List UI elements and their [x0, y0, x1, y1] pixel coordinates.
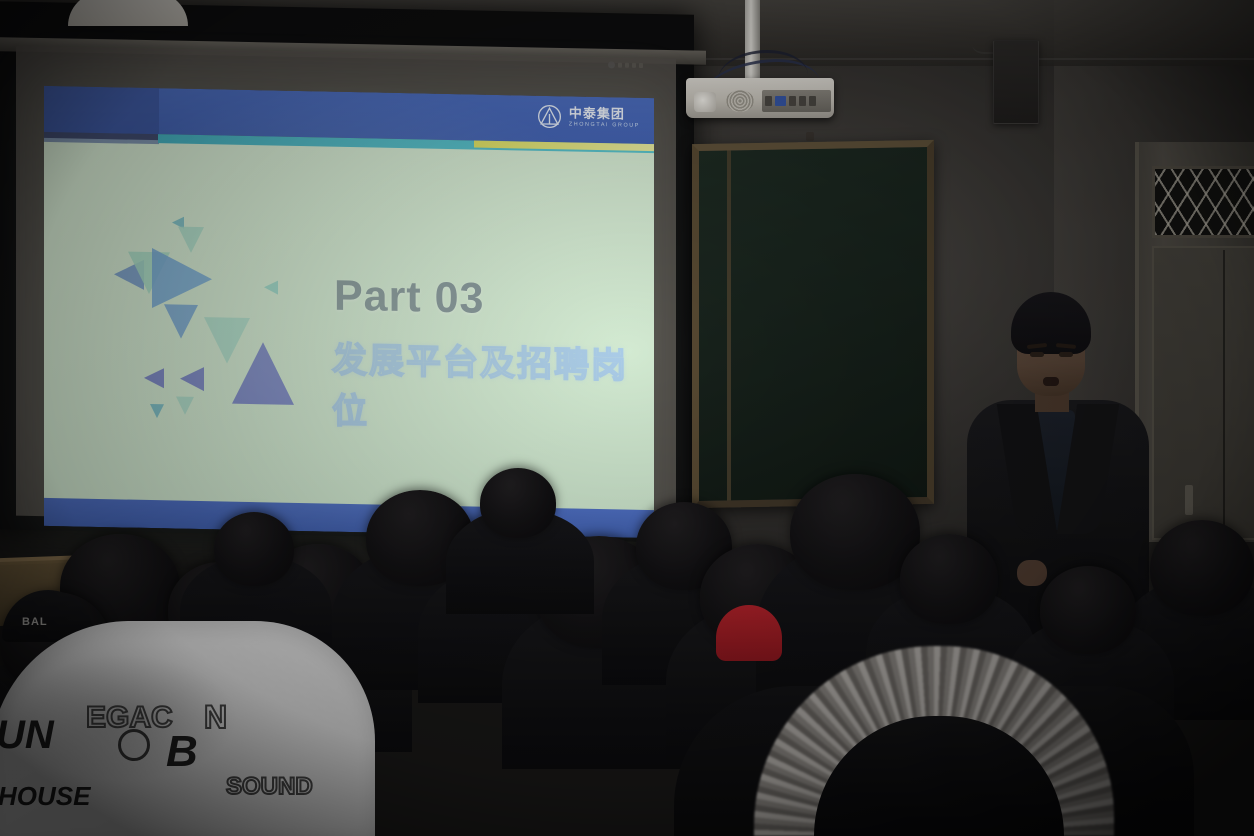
port-icon — [809, 96, 816, 106]
jacket-print-text: SOUND — [226, 773, 313, 801]
decor-triangle — [176, 397, 194, 415]
lattice-grille-icon — [1155, 169, 1254, 235]
jacket-print-text: UN — [0, 713, 54, 758]
audience-head — [480, 468, 556, 538]
lecture-hall-scene: 中泰集团 ZHONGTAI GROUP Part 03 发展平台及招聘岗位 — [0, 0, 1254, 836]
port-icon — [765, 96, 772, 106]
graffiti-print-jacket: UNEGACBHOUSESOUNDN — [0, 621, 375, 836]
slide-part-title: Part 03 — [334, 272, 484, 324]
logo-text-en: ZHONGTAI GROUP — [569, 122, 640, 129]
triangle-circle-logo-icon — [537, 104, 562, 130]
transom-window — [1152, 166, 1254, 238]
jacket-print-text: B — [166, 727, 198, 777]
decor-triangle — [232, 342, 294, 405]
projector-ports — [762, 90, 831, 112]
projector-vent-icon — [726, 90, 754, 112]
decor-triangle — [180, 367, 204, 391]
decor-triangle — [264, 280, 278, 294]
decor-triangle — [164, 304, 198, 339]
presenter-hair — [1011, 292, 1091, 354]
jacket-graphic-print: UNEGACBHOUSESOUNDN — [0, 621, 375, 836]
presenter-eye-right — [1059, 352, 1073, 357]
audience-head — [1040, 566, 1136, 654]
triangle-decoration — [114, 207, 329, 441]
port-icon — [799, 96, 806, 106]
ceiling-projector — [686, 78, 834, 118]
decor-triangle — [144, 368, 164, 388]
jacket-collar — [68, 0, 188, 26]
jacket-print-text: HOUSE — [0, 781, 90, 812]
slide-header-accent — [44, 86, 159, 144]
audience-head — [1150, 520, 1254, 616]
decor-triangle — [152, 248, 212, 309]
blackboard-hook — [806, 132, 814, 141]
jacket-print-text: N — [204, 699, 227, 736]
presenter-eye-left — [1030, 352, 1044, 357]
projector-lens-icon — [694, 92, 716, 112]
presenter-mouth — [1043, 377, 1059, 386]
audience-head — [900, 534, 998, 624]
wall-speaker — [993, 40, 1039, 124]
jacket-print-circle — [118, 729, 150, 761]
logo-text-cn: 中泰集团 — [569, 106, 640, 120]
port-icon — [789, 96, 796, 106]
audience-head — [214, 512, 294, 586]
company-logo: 中泰集团 ZHONGTAI GROUP — [537, 104, 640, 131]
cap-text: BAL — [22, 616, 48, 628]
vga-port-icon — [775, 96, 786, 106]
